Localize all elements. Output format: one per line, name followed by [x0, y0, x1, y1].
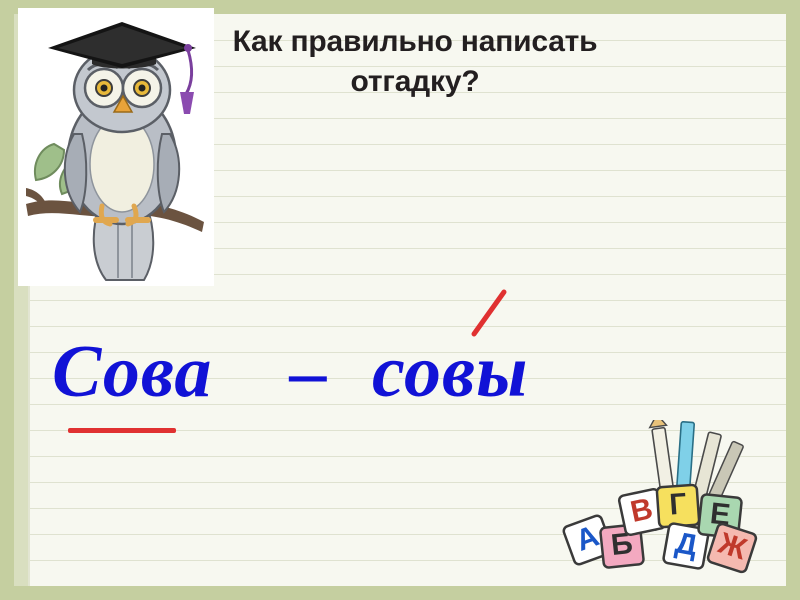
vowel-underline	[68, 428, 176, 433]
alphabet-pencils-icon: А Б В Г Д	[560, 420, 785, 580]
page-title: Как правильно написать отгадку?	[190, 22, 640, 102]
rule-line	[30, 300, 786, 301]
owl-icon	[18, 8, 214, 286]
slide: Как правильно написать отгадку?	[0, 0, 800, 600]
owl-image	[18, 8, 214, 286]
answer-text: Сова – совы	[40, 330, 660, 422]
answer-word-plural: совы	[372, 330, 528, 415]
title-line-2: отгадку?	[190, 62, 640, 102]
answer-dash: –	[290, 330, 328, 415]
letters-image: А Б В Г Д	[560, 420, 785, 580]
svg-text:Г: Г	[668, 487, 687, 521]
stress-mark-icon	[470, 288, 510, 338]
title-line-1: Как правильно написать	[190, 22, 640, 62]
answer-word-singular: Сова	[52, 330, 212, 415]
rule-line	[30, 326, 786, 327]
